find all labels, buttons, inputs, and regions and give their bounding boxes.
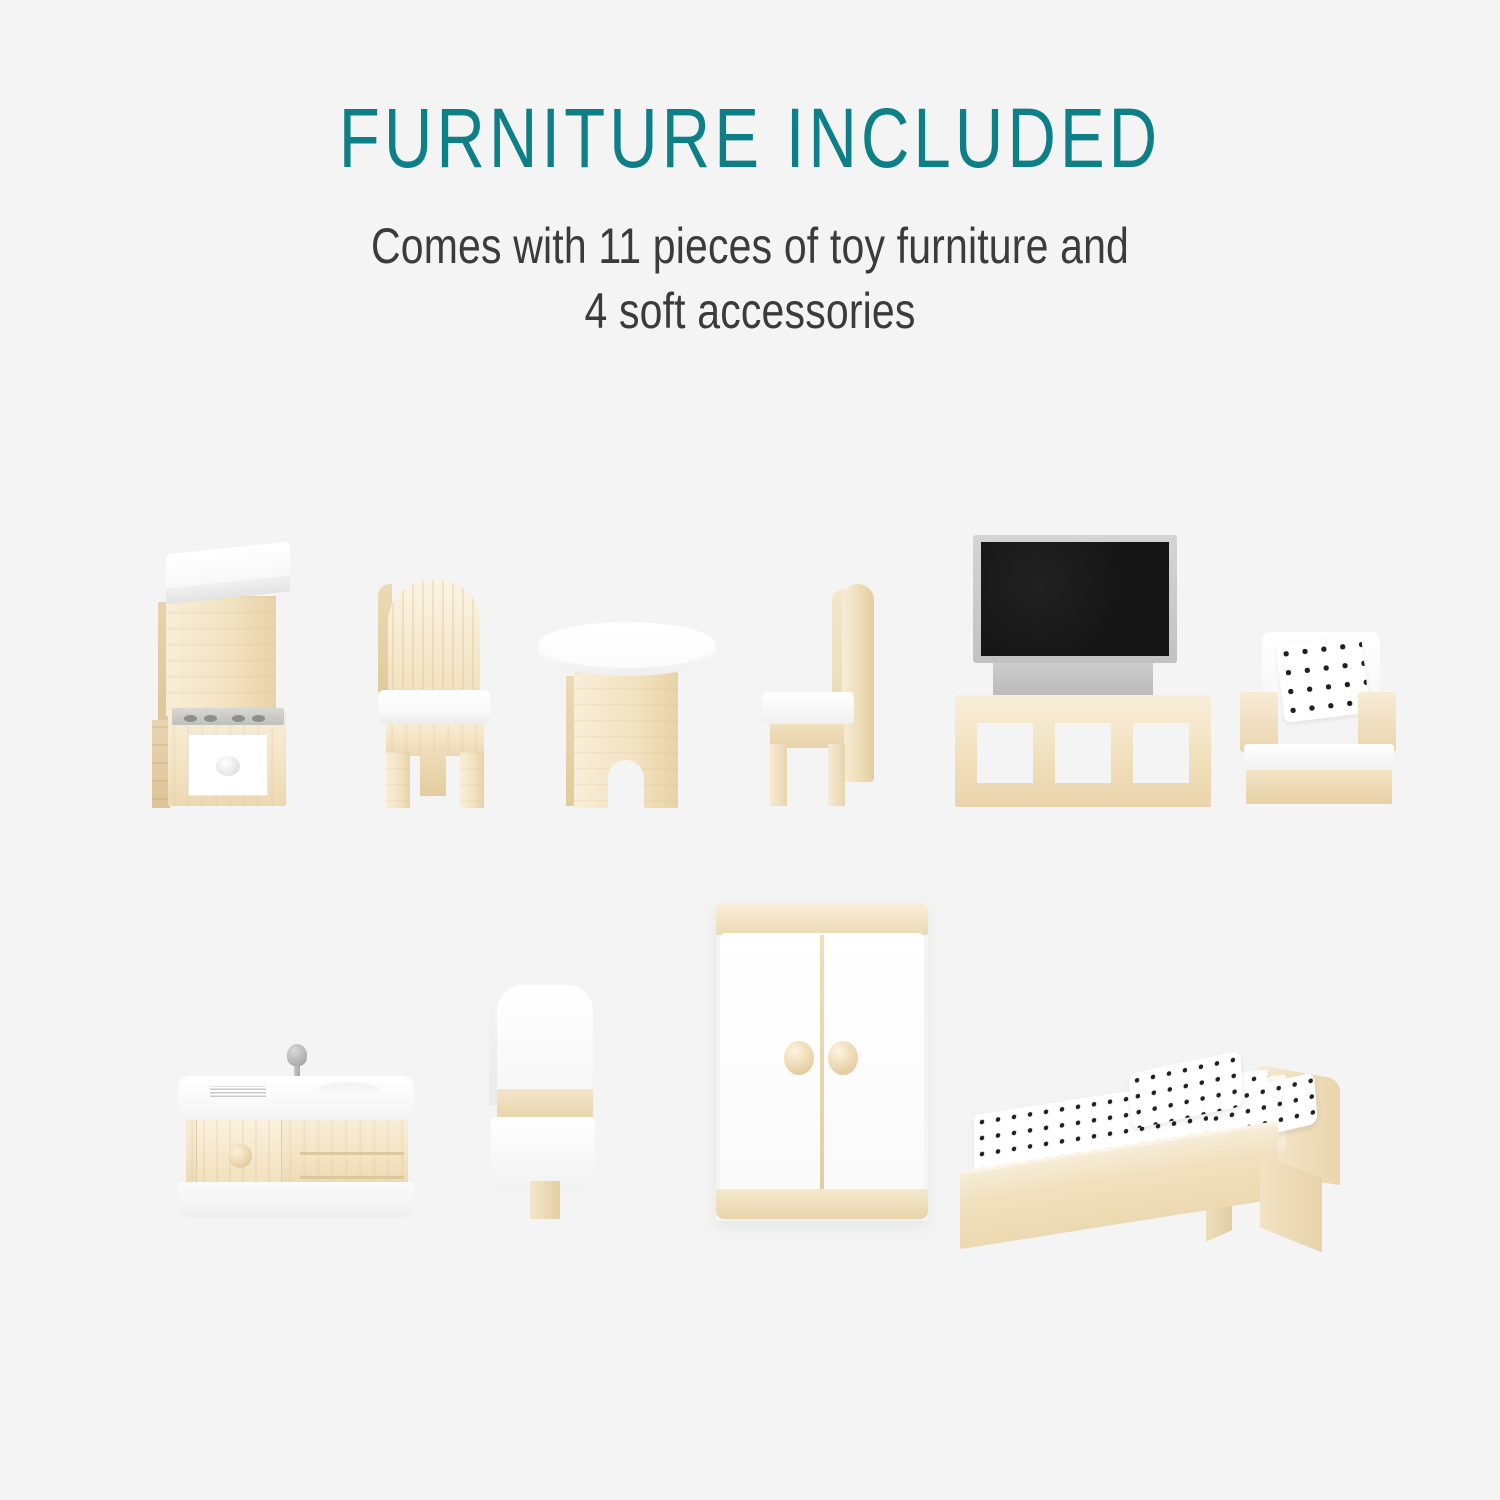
chair-leg (828, 744, 845, 806)
chair-seat-cushion (762, 692, 854, 724)
table-top-surface (538, 622, 716, 668)
vanity-sink-basin (318, 1082, 380, 1098)
armchair-arm (1358, 692, 1396, 752)
chair-apron (386, 720, 484, 756)
stove-burner (232, 715, 245, 722)
stove-burner (252, 715, 265, 722)
chair-leg (460, 752, 484, 808)
vanity-countertop (178, 1076, 414, 1120)
armchair-base (1246, 770, 1392, 804)
vanity-drain-grille (210, 1086, 266, 1097)
toy-round-table (538, 622, 716, 808)
chair-backrest (842, 584, 874, 782)
toilet-bowl (491, 1117, 595, 1191)
stove-oven-knob (216, 756, 240, 776)
table-pedestal-arch-cutout (608, 760, 644, 810)
vanity-shelf (300, 1176, 404, 1179)
toy-bed (960, 1062, 1350, 1254)
toy-armchair (1240, 632, 1400, 808)
toy-toilet (487, 985, 603, 1220)
toy-stove (150, 548, 315, 806)
wardrobe-door-knob (828, 1041, 858, 1075)
toy-dining-chair-front (368, 580, 508, 808)
chair-seat-cushion (378, 690, 490, 724)
media-console-cubby (977, 723, 1033, 783)
wardrobe-door-gap (820, 935, 824, 1189)
product-photo-stage (0, 0, 1500, 1500)
wardrobe-top-trim (716, 903, 928, 935)
vanity-base-plinth (178, 1182, 414, 1218)
tv-stand-base (993, 661, 1153, 699)
toy-bathroom-vanity (178, 1030, 414, 1220)
armchair-arm (1240, 692, 1278, 752)
tv-frame (973, 535, 1177, 663)
vanity-faucet-head (287, 1044, 307, 1066)
wardrobe-door-knob (784, 1041, 814, 1075)
stove-backsplash (166, 596, 276, 716)
toy-wardrobe (716, 903, 928, 1221)
vanity-shelf (300, 1152, 404, 1155)
vanity-door-knob (228, 1144, 252, 1168)
chair-center-support (420, 752, 446, 796)
toy-tv-and-media-console (955, 535, 1217, 807)
toilet-pedestal (530, 1181, 560, 1219)
chair-backrest (388, 580, 480, 698)
chair-leg (386, 752, 410, 808)
media-console-cubby (1133, 723, 1189, 783)
tv-screen (981, 542, 1169, 656)
stove-burner (204, 715, 217, 722)
wardrobe-bottom-trim (716, 1189, 928, 1219)
media-console-cubby (1055, 723, 1111, 783)
toy-dining-chair-side (756, 584, 884, 808)
armchair-polka-dot-pillow (1276, 635, 1371, 723)
toilet-tank (497, 985, 593, 1105)
stove-burner (184, 715, 197, 722)
chair-leg (770, 744, 787, 806)
